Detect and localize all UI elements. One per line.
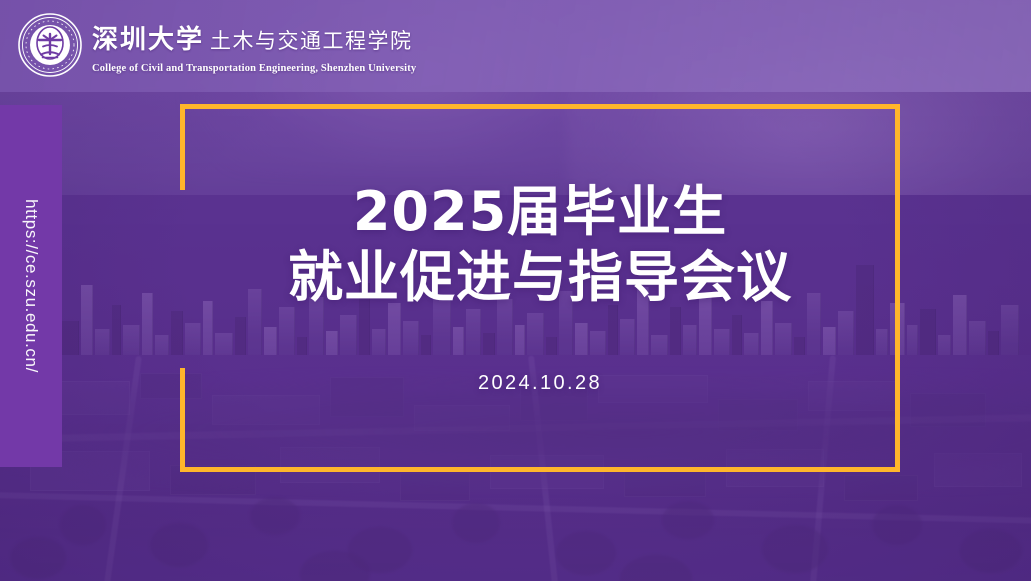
brand-lockup: 深圳大学 土木与交通工程学院 College of Civil and Tran… xyxy=(17,12,416,78)
university-name-cn: 深圳大学 xyxy=(92,19,204,56)
college-name-cn: 土木与交通工程学院 xyxy=(210,25,413,55)
slide-title-line-2: 就业促进与指导会议 xyxy=(288,246,792,310)
meeting-date: 2024.10.28 xyxy=(478,372,602,395)
slide-title-line-1: 2025届毕业生 xyxy=(353,181,727,244)
shenzhen-university-seal-icon xyxy=(17,12,83,78)
brand-text-block: 深圳大学 土木与交通工程学院 College of Civil and Tran… xyxy=(92,12,416,74)
header-band: 深圳大学 土木与交通工程学院 College of Civil and Tran… xyxy=(0,0,1031,92)
title-block: 2025届毕业生 就业促进与指导会议 2024.10.28 xyxy=(180,104,900,472)
college-name-en: College of Civil and Transportation Engi… xyxy=(92,63,416,74)
website-url-bar: https://ce.szu.edu.cn/ xyxy=(0,105,62,467)
presentation-title-slide: 深圳大学 土木与交通工程学院 College of Civil and Tran… xyxy=(0,0,1031,581)
brand-chinese-line: 深圳大学 土木与交通工程学院 xyxy=(92,19,416,56)
website-url-text[interactable]: https://ce.szu.edu.cn/ xyxy=(21,199,41,373)
